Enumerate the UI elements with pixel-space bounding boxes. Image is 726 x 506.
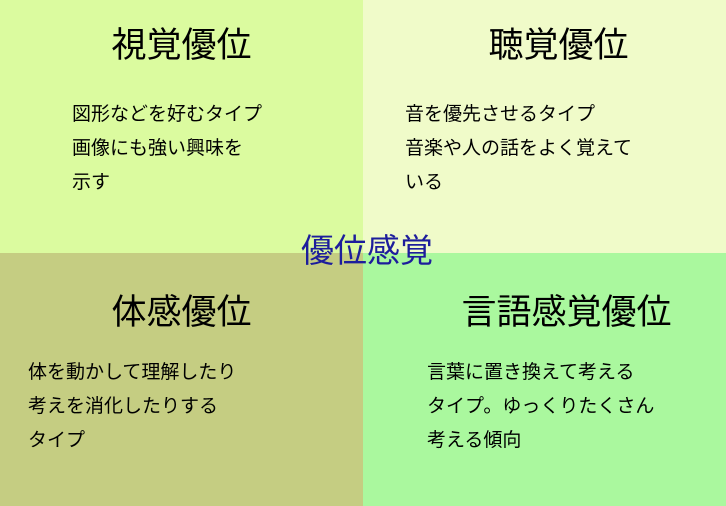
quadrant-auditory-dominant: 聴覚優位 音を優先させるタイプ 音楽や人の話をよく覚えて いる: [363, 0, 726, 253]
quadrant-title-verbal: 言語感覚優位: [363, 295, 726, 330]
diagram-center-label: 優位感覚: [0, 231, 726, 271]
body-line: いる: [405, 166, 632, 200]
body-line: 図形などを好むタイプ: [72, 98, 262, 132]
body-line: 音楽や人の話をよく覚えて: [405, 132, 632, 166]
body-line: 考える傾向: [427, 424, 654, 458]
body-line: タイプ。ゆっくりたくさん: [427, 390, 654, 424]
dominant-sense-quadrant-diagram: 視覚優位 図形などを好むタイプ 画像にも強い興味を 示す 聴覚優位 音を優先させ…: [0, 0, 726, 506]
body-line: 画像にも強い興味を: [72, 132, 262, 166]
body-line: 考えを消化したりする: [28, 390, 236, 424]
body-line: 音を優先させるタイプ: [405, 98, 632, 132]
quadrant-title-kinesthetic: 体感優位: [0, 295, 369, 330]
body-line: タイプ: [28, 424, 236, 458]
quadrant-body-visual: 図形などを好むタイプ 画像にも強い興味を 示す: [72, 98, 262, 200]
quadrant-kinesthetic-dominant: 体感優位 体を動かして理解したり 考えを消化したりする タイプ: [0, 253, 363, 506]
quadrant-visual-dominant: 視覚優位 図形などを好むタイプ 画像にも強い興味を 示す: [0, 0, 363, 253]
quadrant-title-auditory: 聴覚優位: [363, 28, 726, 63]
quadrant-body-auditory: 音を優先させるタイプ 音楽や人の話をよく覚えて いる: [405, 98, 632, 200]
quadrant-body-kinesthetic: 体を動かして理解したり 考えを消化したりする タイプ: [28, 356, 236, 458]
body-line: 言葉に置き換えて考える: [427, 356, 654, 390]
body-line: 体を動かして理解したり: [28, 356, 236, 390]
body-line: 示す: [72, 166, 262, 200]
quadrant-body-verbal: 言葉に置き換えて考える タイプ。ゆっくりたくさん 考える傾向: [427, 356, 654, 458]
quadrant-title-visual: 視覚優位: [0, 28, 369, 63]
quadrant-verbal-dominant: 言語感覚優位 言葉に置き換えて考える タイプ。ゆっくりたくさん 考える傾向: [363, 253, 726, 506]
